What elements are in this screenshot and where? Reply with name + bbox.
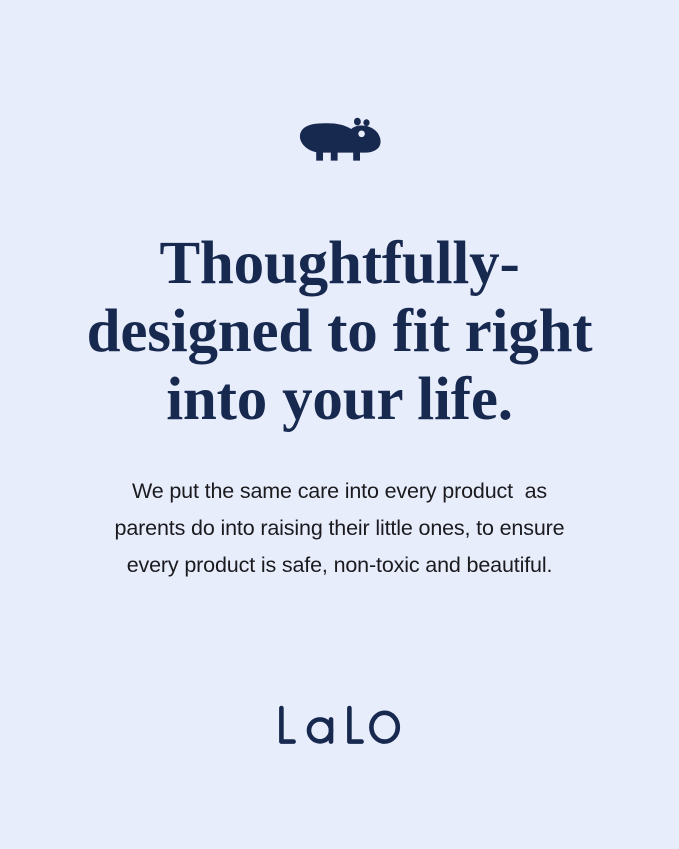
body-line-2: parents do into raising their little one… [70,510,610,547]
headline: Thoughtfully- designed to fit right into… [60,230,620,434]
hippo-eye [358,131,365,138]
lalo-wordmark: LALO [0,703,679,747]
headline-line-1: Thoughtfully- [60,230,620,298]
brand-panel: Thoughtfully- designed to fit right into… [0,0,679,849]
hippo-icon [297,114,383,166]
body-paragraph: We put the same care into every product … [70,473,610,584]
body-line-1: We put the same care into every product … [70,473,610,510]
lalo-wordmark-icon [277,703,403,747]
hippo-logo [297,114,383,166]
headline-line-3: into your life. [60,366,620,434]
headline-line-2: designed to fit right [60,298,620,366]
body-line-3: every product is safe, non-toxic and bea… [70,547,610,584]
